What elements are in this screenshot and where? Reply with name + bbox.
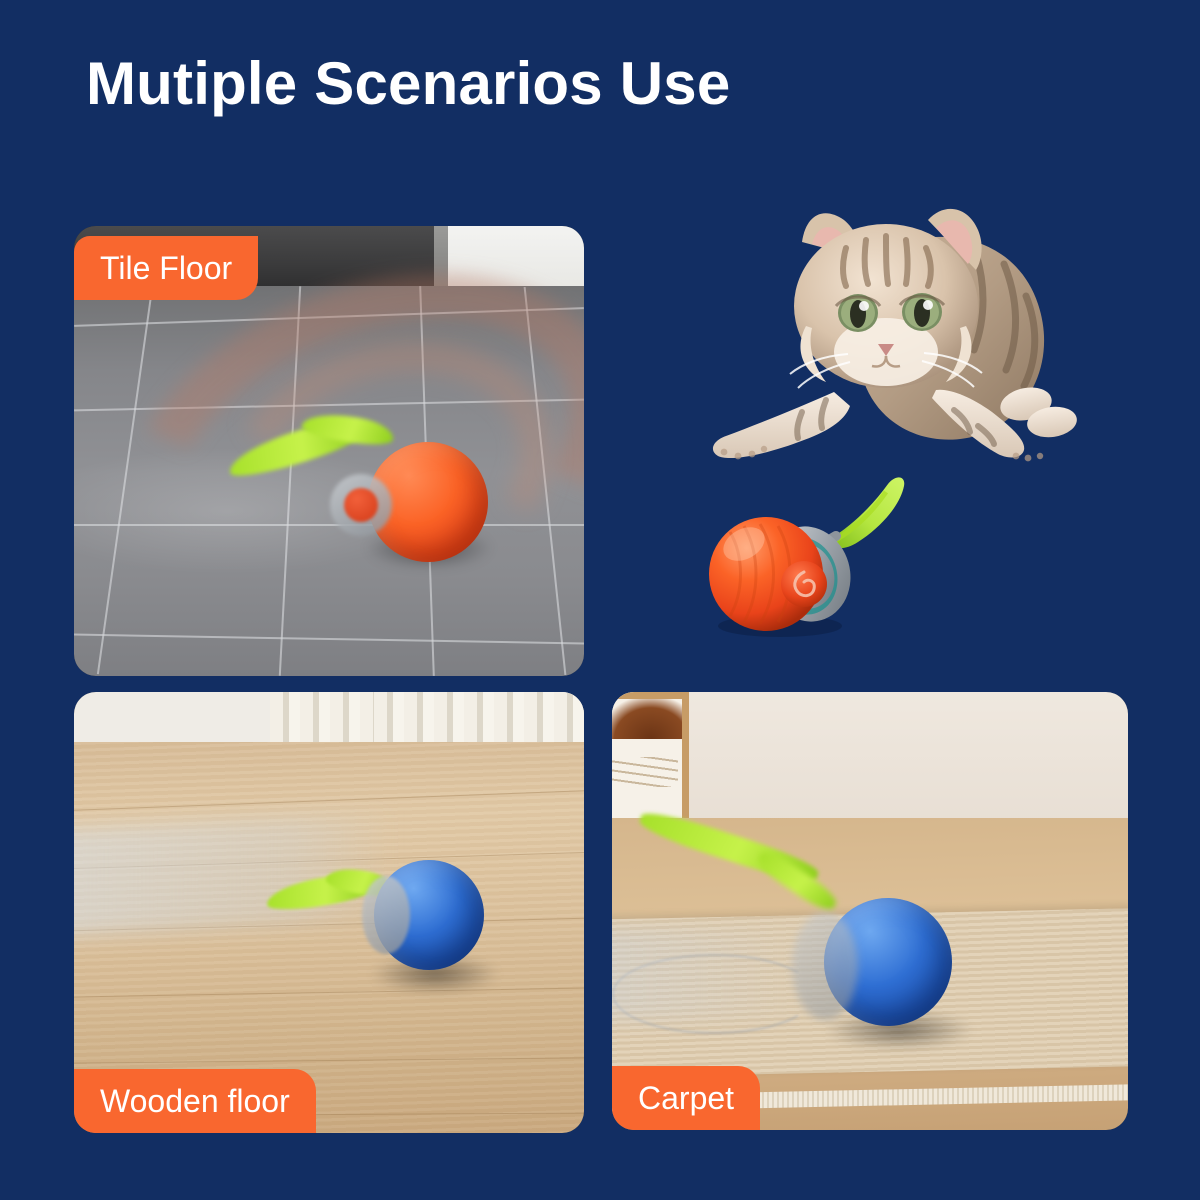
ball-hub xyxy=(792,912,858,1020)
scene-card-wooden-floor[interactable]: Wooden floor xyxy=(74,692,584,1133)
badge-label: Carpet xyxy=(638,1080,734,1117)
scene-card-tile-floor[interactable]: Tile Floor xyxy=(74,226,584,676)
ball-toy-icon xyxy=(700,470,930,640)
carpet-wall xyxy=(612,692,1128,822)
badge-label: Tile Floor xyxy=(100,250,232,287)
ball-hub xyxy=(362,876,410,954)
badge-label: Wooden floor xyxy=(100,1083,290,1120)
power-button-icon xyxy=(344,488,378,522)
badge-tile-floor[interactable]: Tile Floor xyxy=(74,236,258,300)
badge-carpet[interactable]: Carpet xyxy=(612,1066,760,1130)
badge-wooden-floor[interactable]: Wooden floor xyxy=(74,1069,316,1133)
carpet-photo xyxy=(612,692,1128,1130)
scene-card-carpet[interactable]: Carpet xyxy=(612,692,1128,1130)
page-title: Mutiple Scenarios Use xyxy=(86,52,730,115)
cat-icon xyxy=(686,186,1096,476)
wooden-floor-photo xyxy=(74,692,584,1133)
